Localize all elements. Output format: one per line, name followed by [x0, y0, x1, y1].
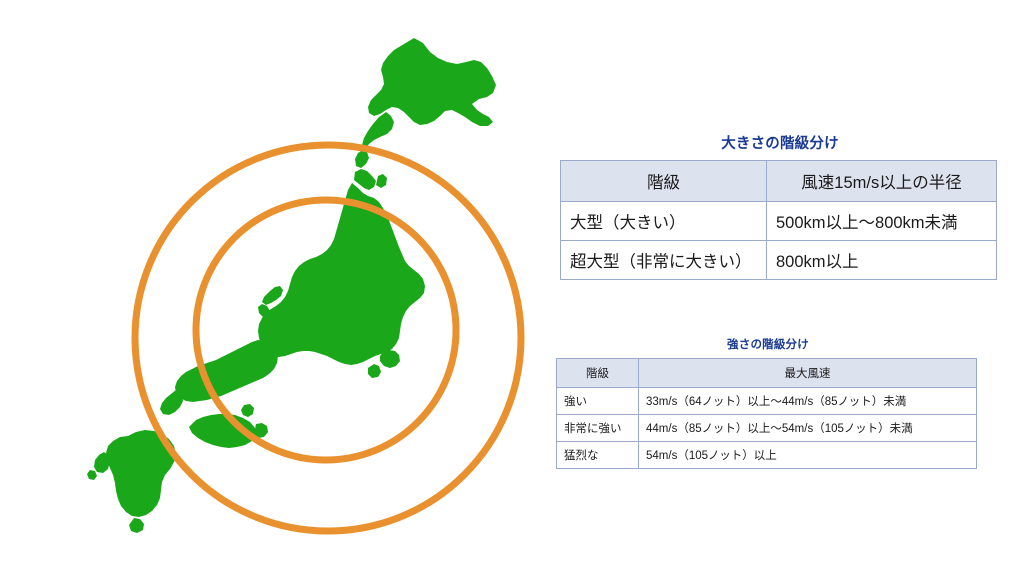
- strength-classification-table: 階級 最大風速 強い 33m/s（64ノット）以上〜44m/s（85ノット）未満…: [556, 358, 977, 469]
- table-row: 非常に強い 44m/s（85ノット）以上〜54m/s（105ノット）未満: [557, 415, 977, 442]
- strength-row1-grade: 非常に強い: [557, 415, 639, 442]
- slide-canvas: 大きさの階級分け 階級 風速15m/s以上の半径 大型（大きい） 500km以上…: [0, 0, 1024, 576]
- strength-classification-block: 強さの階級分け 階級 最大風速 強い 33m/s（64ノット）以上〜44m/s（…: [556, 336, 980, 469]
- table-row: 超大型（非常に大きい） 800km以上: [561, 241, 997, 280]
- size-row1-radius: 800km以上: [767, 241, 997, 280]
- table-header-row: 階級 風速15m/s以上の半径: [561, 161, 997, 202]
- size-classification-table: 階級 風速15m/s以上の半径 大型（大きい） 500km以上〜800km未満 …: [560, 160, 997, 280]
- japan-map-with-typhoon-radius-circles: [0, 0, 556, 576]
- strength-row1-windspeed: 44m/s（85ノット）以上〜54m/s（105ノット）未満: [639, 415, 977, 442]
- japan-map-panel: [0, 0, 556, 576]
- classification-tables-panel: 大きさの階級分け 階級 風速15m/s以上の半径 大型（大きい） 500km以上…: [556, 0, 1024, 576]
- strength-header-windspeed: 最大風速: [639, 359, 977, 388]
- strength-header-grade: 階級: [557, 359, 639, 388]
- strength-row2-grade: 猛烈な: [557, 442, 639, 469]
- size-row1-grade: 超大型（非常に大きい）: [561, 241, 767, 280]
- size-row0-grade: 大型（大きい）: [561, 202, 767, 241]
- strength-row0-grade: 強い: [557, 388, 639, 415]
- strength-table-title: 強さの階級分け: [556, 336, 980, 352]
- table-row: 強い 33m/s（64ノット）以上〜44m/s（85ノット）未満: [557, 388, 977, 415]
- size-row0-radius: 500km以上〜800km未満: [767, 202, 997, 241]
- size-header-radius: 風速15m/s以上の半径: [767, 161, 997, 202]
- size-header-grade: 階級: [561, 161, 767, 202]
- size-classification-block: 大きさの階級分け 階級 風速15m/s以上の半径 大型（大きい） 500km以上…: [560, 132, 1000, 280]
- table-header-row: 階級 最大風速: [557, 359, 977, 388]
- strength-row2-windspeed: 54m/s（105ノット）以上: [639, 442, 977, 469]
- strength-row0-windspeed: 33m/s（64ノット）以上〜44m/s（85ノット）未満: [639, 388, 977, 415]
- table-row: 大型（大きい） 500km以上〜800km未満: [561, 202, 997, 241]
- table-row: 猛烈な 54m/s（105ノット）以上: [557, 442, 977, 469]
- size-table-title: 大きさの階級分け: [560, 132, 1000, 153]
